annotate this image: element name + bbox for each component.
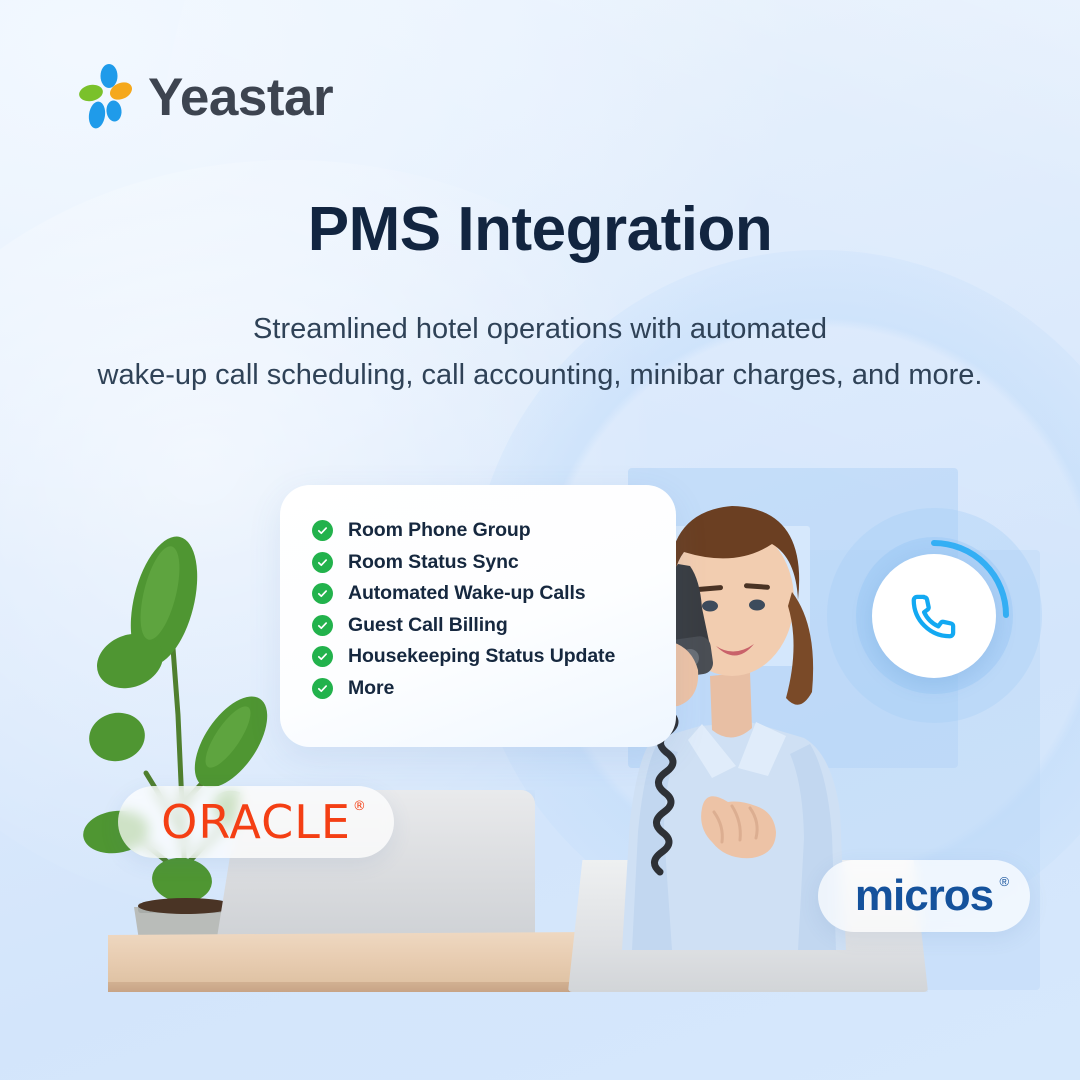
micros-label: micros xyxy=(855,871,993,920)
list-item[interactable]: Room Status Sync xyxy=(312,547,676,579)
list-item[interactable]: Automated Wake-up Calls xyxy=(312,578,676,610)
brand-logo[interactable]: Yeastar xyxy=(78,64,333,130)
partner-badge-oracle[interactable]: ORACLE® xyxy=(118,786,394,858)
check-icon xyxy=(312,583,333,604)
yeastar-petal-logo-icon xyxy=(78,64,134,130)
list-item-label: Housekeeping Status Update xyxy=(348,645,615,668)
registered-trademark-icon: ® xyxy=(1000,874,1009,889)
oracle-wordmark: ORACLE® xyxy=(161,795,351,849)
list-item[interactable]: Room Phone Group xyxy=(312,515,676,547)
registered-trademark-icon: ® xyxy=(353,799,367,814)
micros-wordmark: micros® xyxy=(855,871,993,921)
check-icon xyxy=(312,615,333,636)
list-item[interactable]: Housekeeping Status Update xyxy=(312,641,676,673)
promo-banner: Yeastar PMS Integration Streamlined hote… xyxy=(0,0,1080,1080)
list-item-label: Automated Wake-up Calls xyxy=(348,582,586,605)
phone-feature-badge[interactable] xyxy=(872,554,996,678)
checkmark-glyph xyxy=(316,682,329,695)
checkmark-glyph xyxy=(316,619,329,632)
checkmark-glyph xyxy=(316,650,329,663)
check-icon xyxy=(312,646,333,667)
checkmark-glyph xyxy=(316,524,329,537)
checkmark-glyph xyxy=(316,556,329,569)
subtitle-line-1: Streamlined hotel operations with automa… xyxy=(0,307,1080,353)
check-icon xyxy=(312,678,333,699)
page-subtitle: Streamlined hotel operations with automa… xyxy=(0,307,1080,399)
list-item-label: Room Status Sync xyxy=(348,551,519,574)
list-item-label: Room Phone Group xyxy=(348,519,531,542)
list-item-label: More xyxy=(348,677,394,700)
check-icon xyxy=(312,520,333,541)
feature-list-card: Room Phone Group Room Status Sync Automa… xyxy=(280,485,676,747)
partner-badge-micros[interactable]: micros® xyxy=(818,860,1030,932)
phone-handset-icon xyxy=(907,589,961,643)
list-item[interactable]: Guest Call Billing xyxy=(312,610,676,642)
list-item[interactable]: More xyxy=(312,673,676,705)
list-item-label: Guest Call Billing xyxy=(348,614,508,637)
oracle-label: ORACLE xyxy=(161,795,351,849)
page-title: PMS Integration xyxy=(0,196,1080,264)
subtitle-line-2: wake-up call scheduling, call accounting… xyxy=(0,353,1080,399)
check-icon xyxy=(312,552,333,573)
checkmark-glyph xyxy=(316,587,329,600)
brand-wordmark: Yeastar xyxy=(148,71,333,124)
